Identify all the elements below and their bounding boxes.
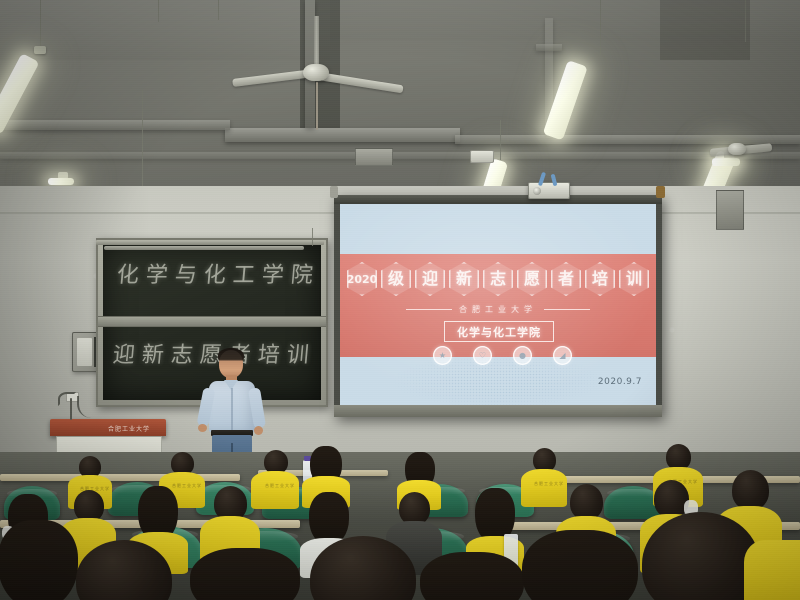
badge-icon-1: ★ — [433, 346, 452, 365]
audience-member-foreground — [744, 530, 800, 600]
subtitle-rule-right — [544, 309, 590, 310]
audience-member-foreground — [306, 536, 426, 600]
projector — [528, 182, 570, 199]
ceiling-beam — [225, 128, 460, 142]
audience-member-foreground — [420, 552, 530, 600]
slide-department-box: 化学与化工学院 — [444, 321, 554, 342]
projection-screen: 2020 级 迎 新 志 愿 者 培 训 合肥工业大学 化学与化工学院 — [334, 195, 662, 417]
small-lamp — [712, 158, 740, 166]
blackboard-text-top: 化学与化工学院 — [116, 257, 322, 289]
slide-icon-badges: ★ ♡ ● ◢ — [433, 346, 572, 365]
audience-head — [570, 484, 603, 520]
audience-member-foreground — [190, 548, 308, 600]
ceiling-shade — [660, 0, 750, 60]
slide-title-char: 迎 — [415, 262, 445, 296]
light-wire — [500, 120, 501, 160]
badge-icon-3: ● — [513, 346, 532, 365]
audience-member-foreground — [76, 540, 186, 600]
ceiling-fan-rod — [314, 16, 319, 68]
screen-bracket-right — [656, 186, 665, 198]
subtitle-rule-left — [406, 309, 452, 310]
audience-hair-long — [522, 530, 638, 600]
slide-title-char: 新 — [449, 262, 479, 296]
ceiling-fan-cord — [316, 82, 318, 130]
blackboard-lamp-wire — [312, 228, 313, 246]
slide-university-line: 合肥工业大学 — [340, 304, 656, 315]
podium-institution-text: 合肥工业大学 — [108, 424, 150, 433]
presentation-slide: 2020 级 迎 新 志 愿 者 培 训 合肥工业大学 化学与化工学院 — [340, 204, 656, 405]
audience-head — [310, 536, 416, 600]
audience-hair-long — [190, 548, 300, 600]
screen-bottom-bar — [334, 405, 662, 417]
ceiling-beam — [0, 120, 230, 130]
light-wire — [600, 0, 601, 55]
control-panel-face — [77, 338, 92, 366]
slide-title-char: 训 — [619, 262, 649, 296]
ceiling-sensor — [470, 150, 494, 163]
light-wire — [218, 0, 219, 20]
light-holder — [34, 46, 46, 54]
ceiling-beam — [0, 152, 800, 159]
ceiling — [0, 0, 800, 190]
microphone-arm — [58, 392, 76, 406]
small-lamp — [48, 178, 74, 185]
podium-top: 合肥工业大学 — [50, 419, 166, 436]
slide-title-char: 愿 — [517, 262, 547, 296]
slide-title-char: 志 — [483, 262, 513, 296]
ceiling-fan-hub — [303, 64, 329, 81]
ceiling-support-bracket — [536, 44, 562, 51]
slide-date: 2020.9.7 — [598, 377, 642, 387]
projector-lens — [533, 187, 541, 195]
ceiling-beam — [455, 135, 800, 144]
speaker-shirt-placket — [231, 388, 233, 430]
audience-hair-long — [0, 520, 78, 600]
wall-mounted-box — [716, 190, 744, 230]
slide-title-char: 者 — [551, 262, 581, 296]
audience-hair-long — [420, 552, 524, 600]
tee-print-text: 合肥工业大学 — [265, 483, 295, 489]
blackboard-lamp — [104, 246, 304, 250]
light-wire — [40, 0, 41, 48]
light-wire — [158, 0, 159, 22]
speaker-left-hand — [198, 424, 207, 432]
audience-torso — [744, 540, 800, 600]
slide-title-char: 培 — [585, 262, 615, 296]
ceiling-vent — [355, 148, 393, 166]
audience-head — [732, 470, 769, 510]
screen-bracket-left — [330, 186, 338, 198]
lecture-hall-photo: 化学与化工学院 迎新志愿者培训 2020 级 迎 新 志 愿 者 培 训 — [0, 0, 800, 600]
ceiling-fan-hub — [728, 143, 746, 155]
ceiling-slab — [0, 0, 330, 60]
badge-icon-2: ♡ — [473, 346, 492, 365]
slide-university-name: 合肥工业大学 — [459, 304, 537, 315]
speaker-right-hand — [254, 426, 263, 435]
slide-department-name: 化学与化工学院 — [457, 324, 541, 340]
slide-year-badge: 2020 — [347, 262, 377, 296]
light-wire — [745, 0, 746, 42]
audience-member-foreground — [520, 530, 646, 600]
slide-title-char: 级 — [381, 262, 411, 296]
slide-title-row: 2020 级 迎 新 志 愿 者 培 训 — [340, 262, 656, 296]
blackboard-top-rail — [96, 240, 324, 245]
blackboard-divider — [98, 316, 326, 327]
screen-top-bar — [334, 195, 662, 204]
badge-icon-4: ◢ — [553, 346, 572, 365]
audience-head — [642, 512, 760, 600]
speaker-head — [219, 350, 243, 378]
audience-head — [76, 540, 172, 600]
